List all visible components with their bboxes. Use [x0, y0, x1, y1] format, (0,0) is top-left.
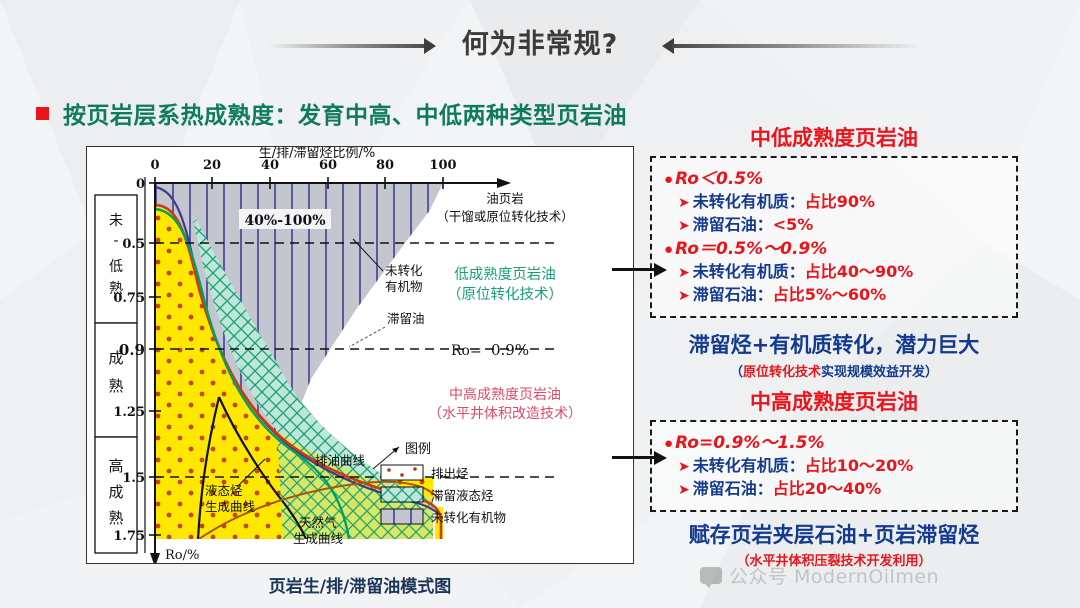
chart-caption: 页岩生/排/滞留油模式图	[86, 572, 634, 597]
svg-text:0.9: 0.9	[119, 341, 145, 359]
svg-text:0: 0	[136, 177, 145, 192]
watermark: 公众号 ModernOilmen	[700, 562, 939, 589]
list-item: ➤未转化有机质：占比40～90%	[664, 261, 1006, 284]
svg-text:0.5: 0.5	[122, 237, 145, 252]
svg-text:0.9%: 0.9%	[491, 341, 529, 359]
bullet-dot-icon: ●	[664, 169, 673, 190]
svg-text:0.75: 0.75	[113, 291, 145, 306]
svg-text:成: 成	[108, 483, 123, 501]
svg-text:排出烃: 排出烃	[431, 466, 469, 481]
list-item: ➤未转化有机质：占比90%	[664, 191, 1006, 214]
svg-text:Ro/%: Ro/%	[165, 548, 199, 563]
svg-text:Ro=: Ro=	[451, 343, 482, 359]
svg-text:未转化有机物: 未转化有机物	[431, 510, 506, 525]
svg-text:滞留液态烃: 滞留液态烃	[431, 488, 494, 503]
svg-text:有机物: 有机物	[385, 279, 423, 294]
header-rule-right	[672, 44, 922, 48]
watermark-text: 公众号 ModernOilmen	[729, 562, 939, 589]
chevron-right-icon: ➤	[678, 195, 690, 211]
svg-text:天然气: 天然气	[299, 515, 337, 530]
svg-text:熟: 熟	[108, 509, 123, 527]
svg-text:80: 80	[376, 158, 394, 173]
list-item: ➤未转化有机质：占比10～20%	[664, 455, 1006, 478]
high-maturity-heading: 中高成熟度页岩油	[650, 390, 1018, 415]
shale-oil-model-chart: 未 - 低 熟 成 熟 高 成 熟	[86, 146, 634, 564]
list-item-label: ➤未转化有机质：占比10～20%	[678, 455, 913, 478]
svg-text:20: 20	[203, 158, 221, 173]
list-item-label: ➤滞留石油：占比5%～60%	[678, 284, 886, 307]
list-item-label: ➤滞留石油：<5%	[678, 214, 813, 237]
low-maturity-box: ● Ro＜0.5% ➤未转化有机质：占比90% ➤滞留石油：<5% ● Ro＝0…	[650, 156, 1018, 318]
chat-bubble-icon	[700, 567, 722, 584]
svg-text:排油曲线: 排油曲线	[315, 453, 366, 468]
list-item-label: Ro=0.9%～1.5%	[675, 431, 824, 455]
svg-text:100: 100	[429, 158, 456, 173]
svg-text:0: 0	[150, 158, 159, 173]
bullet-square-icon	[36, 107, 49, 120]
svg-text:生成曲线: 生成曲线	[293, 531, 344, 546]
svg-text:生成曲线: 生成曲线	[205, 499, 256, 514]
mid-note-main: 滞留烃+有机质转化，潜力巨大	[650, 329, 1018, 359]
list-item-label: ➤滞留石油：占比20～40%	[678, 478, 881, 501]
svg-text:图例: 图例	[405, 442, 431, 457]
bullet-dot-icon: ●	[664, 239, 673, 260]
list-item: ● Ro＝0.5%～0.9%	[664, 237, 1006, 261]
svg-text:低成熟度页岩油: 低成熟度页岩油	[454, 266, 556, 283]
list-item: ➤滞留石油：占比20～40%	[664, 478, 1006, 501]
svg-text:高: 高	[108, 457, 123, 475]
chevron-right-icon: ➤	[678, 288, 690, 304]
chart-plot-area	[155, 183, 443, 563]
chevron-right-icon: ➤	[678, 459, 690, 475]
svg-text:1.25: 1.25	[113, 405, 145, 420]
svg-text:40%-100%: 40%-100%	[244, 213, 325, 229]
svg-text:1.75: 1.75	[113, 529, 145, 544]
list-item: ➤滞留石油：占比5%～60%	[664, 284, 1006, 307]
slide-header: 何为非常规?	[0, 22, 1080, 68]
subtitle-text: 按页岩层系热成熟度：发育中高、中低两种类型页岩油	[63, 96, 627, 130]
svg-text:中高成熟度页岩油: 中高成熟度页岩油	[449, 386, 561, 403]
svg-text:1.5: 1.5	[122, 471, 145, 486]
svg-text:（原位转化技术）: （原位转化技术）	[447, 286, 563, 303]
list-item-label: ➤未转化有机质：占比40～90%	[678, 261, 913, 284]
svg-text:未转化: 未转化	[385, 263, 423, 278]
svg-text:液态烃: 液态烃	[205, 483, 243, 498]
page-title: 何为非常规?	[0, 22, 1080, 61]
chevron-right-icon: ➤	[678, 482, 690, 498]
mid-note-sub: （原位转化技术实现规模效益开发）	[650, 361, 1018, 380]
list-item: ➤滞留石油：<5%	[664, 214, 1006, 237]
high-maturity-box: ● Ro=0.9%～1.5% ➤未转化有机质：占比10～20% ➤滞留石油：占比…	[650, 420, 1018, 512]
list-item-label: Ro＜0.5%	[675, 167, 763, 191]
svg-text:油页岩: 油页岩	[486, 191, 524, 206]
mid-note: 滞留烃+有机质转化，潜力巨大 （原位转化技术实现规模效益开发）	[650, 329, 1018, 380]
svg-text:未: 未	[109, 213, 123, 229]
subtitle-row: 按页岩层系热成熟度：发育中高、中低两种类型页岩油	[36, 96, 627, 130]
svg-text:熟: 熟	[108, 377, 123, 395]
list-item: ● Ro＜0.5%	[664, 167, 1006, 191]
svg-text:（水平井体积改造技术）: （水平井体积改造技术）	[428, 406, 582, 422]
svg-text:（干馏或原位转化技术）: （干馏或原位转化技术）	[436, 209, 574, 224]
svg-text:低: 低	[109, 259, 123, 275]
right-info-column: 中低成熟度页岩油 ● Ro＜0.5% ➤未转化有机质：占比90% ➤滞留石油：<…	[650, 126, 1018, 569]
chevron-right-icon: ➤	[678, 218, 690, 234]
chevron-right-icon: ➤	[678, 265, 690, 281]
svg-text:滞留油: 滞留油	[387, 311, 425, 326]
svg-text:-: -	[113, 233, 118, 249]
foot-note-main: 赋存页岩夹层石油+页岩滞留烃	[650, 519, 1018, 549]
maturity-zone-column: 未 - 低 熟 成 熟 高 成 熟	[95, 177, 145, 553]
low-maturity-heading: 中低成熟度页岩油	[650, 126, 1018, 151]
list-item-label: Ro＝0.5%～0.9%	[675, 237, 827, 261]
list-item-label: ➤未转化有机质：占比90%	[678, 191, 875, 214]
svg-text:生/排/滞留烃比例/%: 生/排/滞留烃比例/%	[259, 147, 376, 161]
list-item: ● Ro=0.9%～1.5%	[664, 431, 1006, 455]
